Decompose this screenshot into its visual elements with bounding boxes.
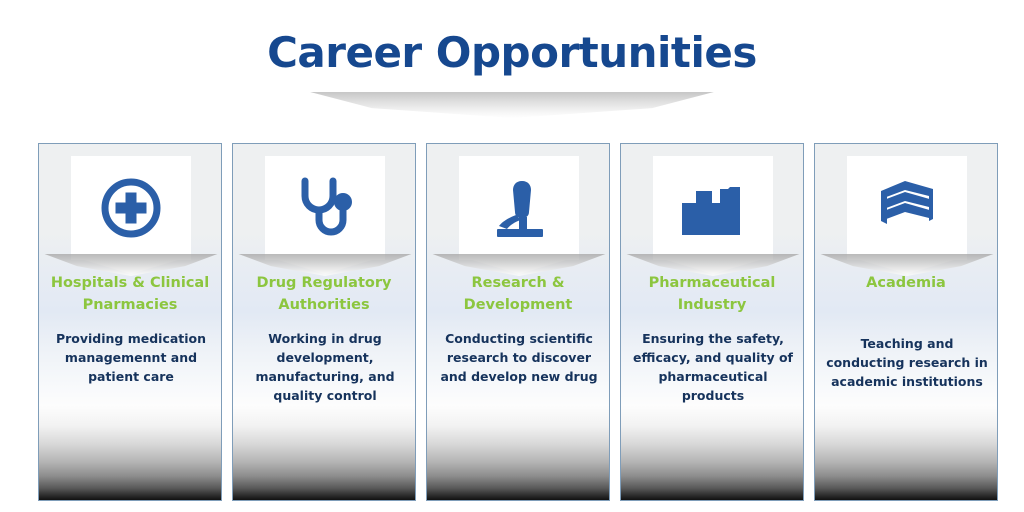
book-stack-icon [875, 179, 939, 237]
career-card-research[interactable]: Research & Development Conducting scient… [426, 143, 610, 501]
card-body: Ensuring the safety, efficacy, and quali… [627, 329, 799, 405]
card-heading: Research & Development [433, 272, 603, 316]
title-curl-shadow [306, 92, 718, 122]
card-body: Providing medication managemennt and pat… [45, 329, 217, 386]
title-curl-shadow-left [306, 92, 512, 118]
icon-panel [653, 156, 773, 260]
title-section: Career Opportunities [0, 0, 1024, 135]
card-heading: Pharmaceutical Industry [627, 272, 797, 316]
icon-panel [459, 156, 579, 260]
card-heading: Drug Regulatory Authorities [239, 272, 409, 316]
page-title: Career Opportunities [0, 28, 1024, 77]
stethoscope-icon [296, 176, 354, 240]
icon-panel [71, 156, 191, 260]
icon-panel [265, 156, 385, 260]
icon-panel [847, 156, 967, 260]
career-card-pharma-industry[interactable]: Pharmaceutical Industry Ensuring the saf… [620, 143, 804, 501]
card-heading: Hospitals & Clinical Pnarmacies [45, 272, 215, 316]
microscope-icon [489, 177, 549, 239]
career-cards-row: Hospitals & Clinical Pnarmacies Providin… [38, 143, 998, 501]
card-body: Working in drug development, manufacturi… [239, 329, 411, 405]
career-card-academia[interactable]: Academia Teaching and conducting researc… [814, 143, 998, 501]
medical-cross-circle-icon [100, 177, 162, 239]
title-curl-shadow-right [512, 92, 718, 118]
career-card-drug-regulatory[interactable]: Drug Regulatory Authorities Working in d… [232, 143, 416, 501]
factory-icon [680, 181, 746, 235]
career-card-hospitals[interactable]: Hospitals & Clinical Pnarmacies Providin… [38, 143, 222, 501]
card-body: Conducting scientific research to discov… [433, 329, 605, 386]
card-heading: Academia [821, 272, 991, 294]
card-body: Teaching and conducting research in acad… [821, 334, 993, 391]
